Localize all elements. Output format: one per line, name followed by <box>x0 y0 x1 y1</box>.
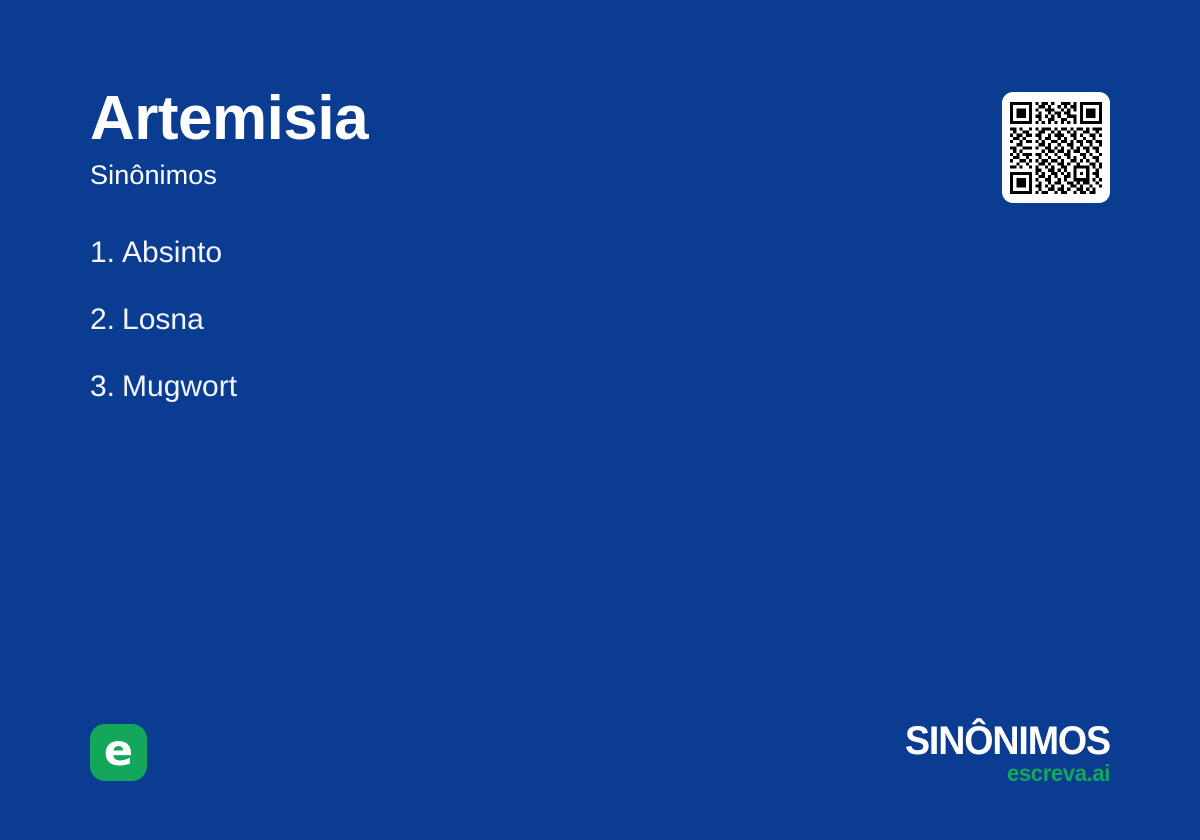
qr-code-icon <box>1010 102 1102 194</box>
header: Artemisia Sinônimos <box>90 88 950 189</box>
page-subtitle: Sinônimos <box>90 162 950 189</box>
list-item: 1.Absinto <box>90 236 790 270</box>
list-item-label: Losna <box>122 303 204 336</box>
app-logo-letter: e <box>104 730 133 773</box>
escreva-app-logo-icon[interactable]: e <box>90 724 147 781</box>
list-item-index: 1. <box>90 236 115 269</box>
synonym-card: Artemisia Sinônimos <box>0 0 1200 840</box>
list-item-index: 3. <box>90 370 115 403</box>
qr-code-card[interactable] <box>1002 92 1110 203</box>
list-item: 2.Losna <box>90 303 790 337</box>
synonyms-list: 1.Absinto 2.Losna 3.Mugwort <box>90 236 790 437</box>
list-item-label: Absinto <box>122 236 222 269</box>
list-item-index: 2. <box>90 303 115 336</box>
list-item: 3.Mugwort <box>90 370 790 404</box>
brand-domain: escreva.ai <box>822 761 1110 785</box>
list-item-label: Mugwort <box>122 370 237 403</box>
brand-name: SINÔNIMOS <box>828 722 1110 760</box>
page-title: Artemisia <box>90 88 950 150</box>
brand-lockup: SINÔNIMOS escreva.ai <box>810 722 1110 785</box>
